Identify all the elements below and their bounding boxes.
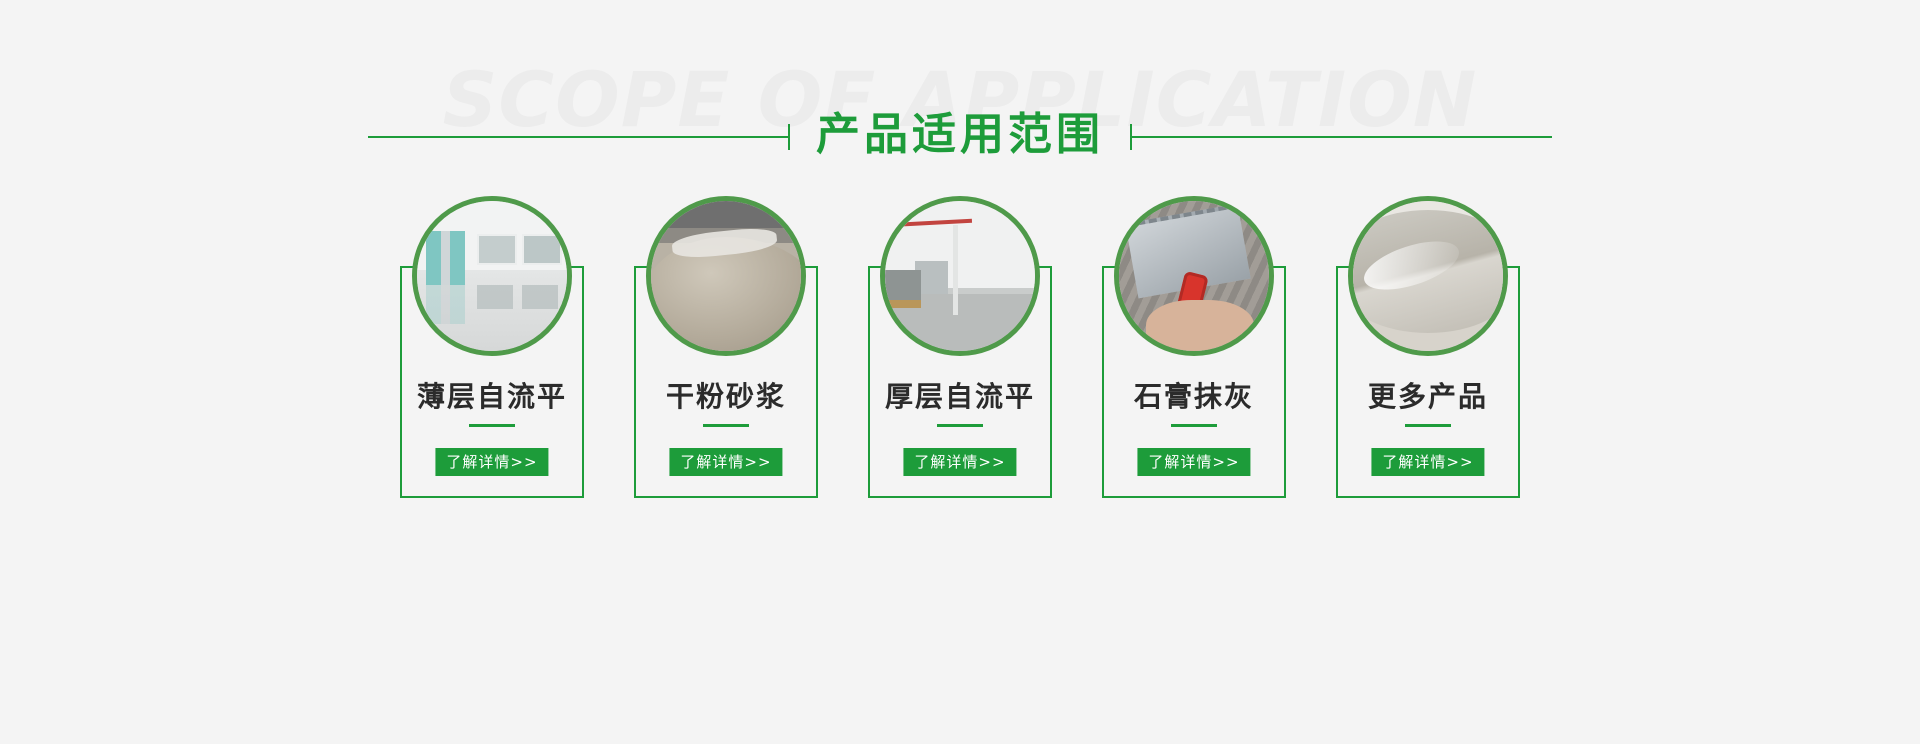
section-header: SCOPE OF APPLICATION 产品适用范围	[0, 0, 1920, 200]
card-title-underline	[469, 424, 515, 427]
card-title-underline	[1171, 424, 1217, 427]
learn-more-button[interactable]: 了解详情>>	[903, 448, 1016, 476]
learn-more-button[interactable]: 了解详情>>	[435, 448, 548, 476]
learn-more-button[interactable]: 了解详情>>	[1371, 448, 1484, 476]
card-title-underline	[937, 424, 983, 427]
card-title-underline	[1405, 424, 1451, 427]
product-card[interactable]: 更多产品 了解详情>>	[1328, 196, 1528, 516]
page-title: 产品适用范围	[790, 113, 1130, 157]
product-card[interactable]: 薄层自流平 了解详情>>	[392, 196, 592, 516]
notched-trowel-in-hand-photo	[1119, 201, 1269, 351]
card-image-circle	[1114, 196, 1274, 356]
card-title: 更多产品	[1328, 382, 1528, 413]
title-rule-right	[1132, 136, 1552, 138]
product-card[interactable]: 干粉砂浆 了解详情>>	[626, 196, 826, 516]
card-image-circle	[880, 196, 1040, 356]
dry-mortar-powder-pile-photo	[651, 201, 801, 351]
product-card[interactable]: 厚层自流平 了解详情>>	[860, 196, 1060, 516]
warehouse-grey-floor-photo	[885, 201, 1035, 351]
cleanroom-epoxy-floor-photo	[417, 201, 567, 351]
card-image-circle	[1348, 196, 1508, 356]
card-title: 干粉砂浆	[626, 382, 826, 413]
product-card-list: 薄层自流平 了解详情>> 干粉砂浆 了解详情>>	[0, 196, 1920, 536]
learn-more-button[interactable]: 了解详情>>	[669, 448, 782, 476]
scope-of-application-section: SCOPE OF APPLICATION 产品适用范围 薄层自流平 了解详情>>	[0, 0, 1920, 744]
card-title: 厚层自流平	[860, 382, 1060, 413]
product-card[interactable]: 石膏抹灰 了解详情>>	[1094, 196, 1294, 516]
card-title: 薄层自流平	[392, 382, 592, 413]
gypsum-powder-disc-photo	[1353, 201, 1503, 351]
learn-more-button[interactable]: 了解详情>>	[1137, 448, 1250, 476]
card-title-underline	[703, 424, 749, 427]
section-title-row: 产品适用范围	[0, 106, 1920, 168]
card-image-circle	[412, 196, 572, 356]
card-title: 石膏抹灰	[1094, 382, 1294, 413]
title-rule-left	[368, 136, 788, 138]
card-image-circle	[646, 196, 806, 356]
